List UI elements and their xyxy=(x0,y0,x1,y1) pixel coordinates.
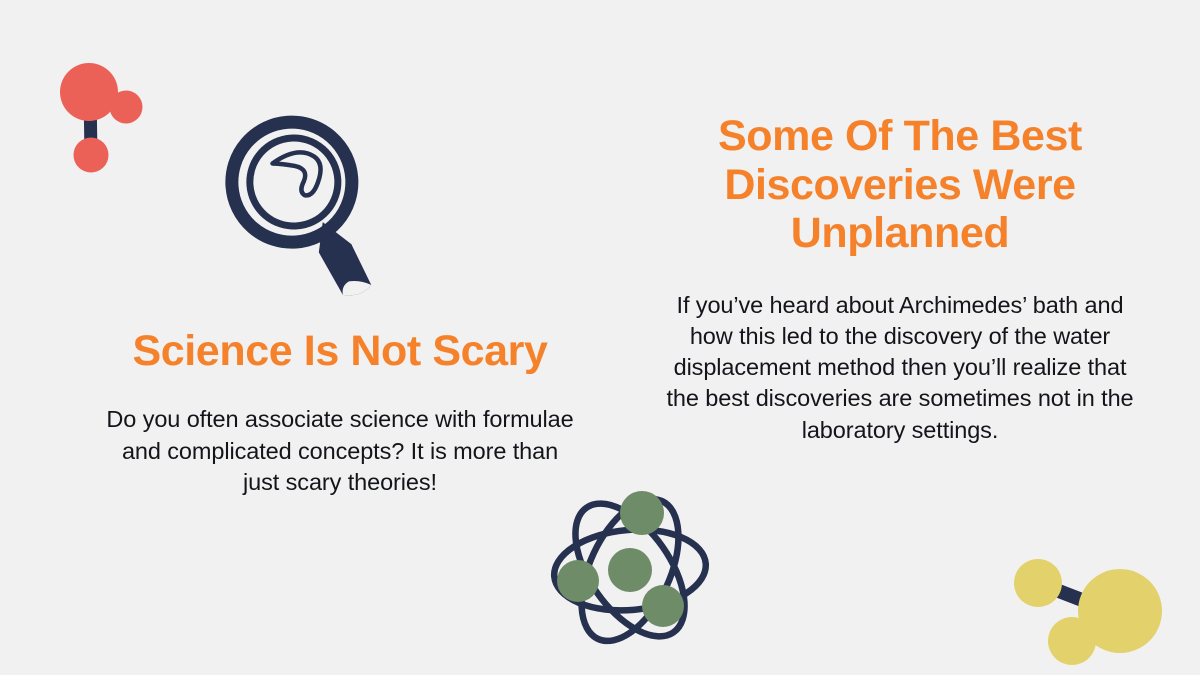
magnifier-icon xyxy=(222,112,392,312)
right-body-text: If you’ve heard about Archimedes’ bath a… xyxy=(640,290,1160,446)
slide-canvas: Science Is Not Scary Do you often associ… xyxy=(0,0,1200,675)
left-heading: Science Is Not Scary xyxy=(40,328,640,374)
left-body-text: Do you often associate science with form… xyxy=(40,404,640,498)
left-column: Science Is Not Scary Do you often associ… xyxy=(40,328,640,498)
atom-icon xyxy=(530,478,730,663)
molecule-yellow-icon xyxy=(1000,548,1190,675)
molecule-red-icon xyxy=(48,48,168,188)
right-column: Some Of The Best Discoveries Were Unplan… xyxy=(640,112,1160,446)
right-heading: Some Of The Best Discoveries Were Unplan… xyxy=(640,112,1160,258)
